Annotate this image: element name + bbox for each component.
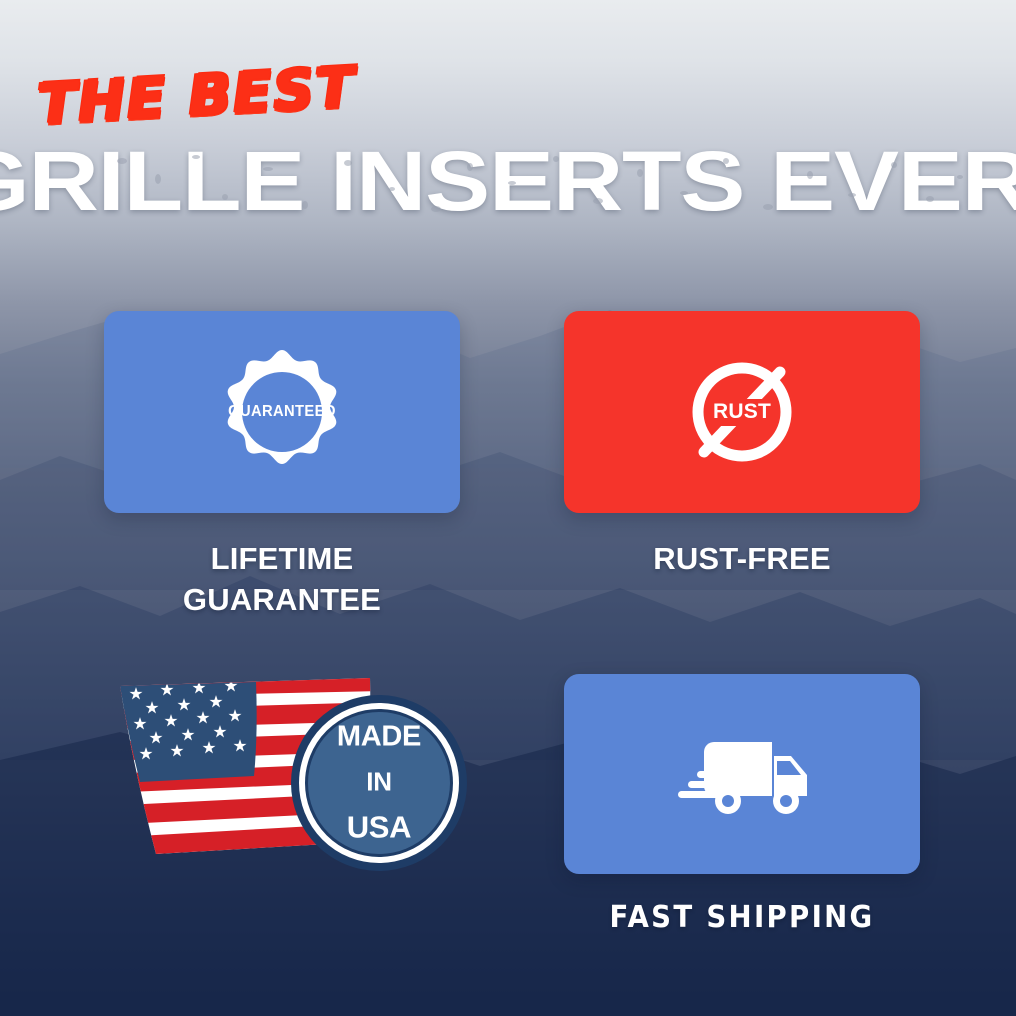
made-in-usa-label: MADE IN USA [337, 707, 421, 860]
no-rust-label: RUST [713, 400, 771, 424]
headline-block: THE BEST GRILLE INSERTS EVER! [0, 0, 1016, 250]
caption-fast-shipping: FAST SHIPPING [578, 898, 906, 938]
promo-graphic: THE BEST GRILLE INSERTS EVER! [0, 0, 1016, 1016]
feature-card-fast-shipping[interactable] [564, 674, 920, 874]
page-title: GRILLE INSERTS EVER! [0, 139, 1016, 223]
usa-line-3: USA [337, 812, 421, 844]
caption-rust-free: RUST-FREE [564, 538, 920, 579]
guarantee-seal-label: GUARANTEED [228, 403, 336, 421]
usa-line-1: MADE [337, 723, 421, 753]
caption-lifetime-guarantee: LIFETIME GUARANTEE [104, 538, 460, 620]
feature-card-lifetime-guarantee[interactable]: GUARANTEED [104, 311, 460, 513]
usa-line-2: IN [337, 769, 421, 796]
delivery-truck-icon [670, 728, 814, 820]
made-in-usa-badge-icon: MADE IN USA [290, 694, 468, 872]
feature-card-rust-free[interactable]: RUST [564, 311, 920, 513]
guarantee-seal-icon: GUARANTEED [216, 346, 348, 478]
no-rust-icon: RUST [682, 352, 802, 472]
headline-kicker: THE BEST [36, 60, 357, 134]
feature-made-in-usa[interactable]: MADE IN USA [100, 666, 470, 881]
